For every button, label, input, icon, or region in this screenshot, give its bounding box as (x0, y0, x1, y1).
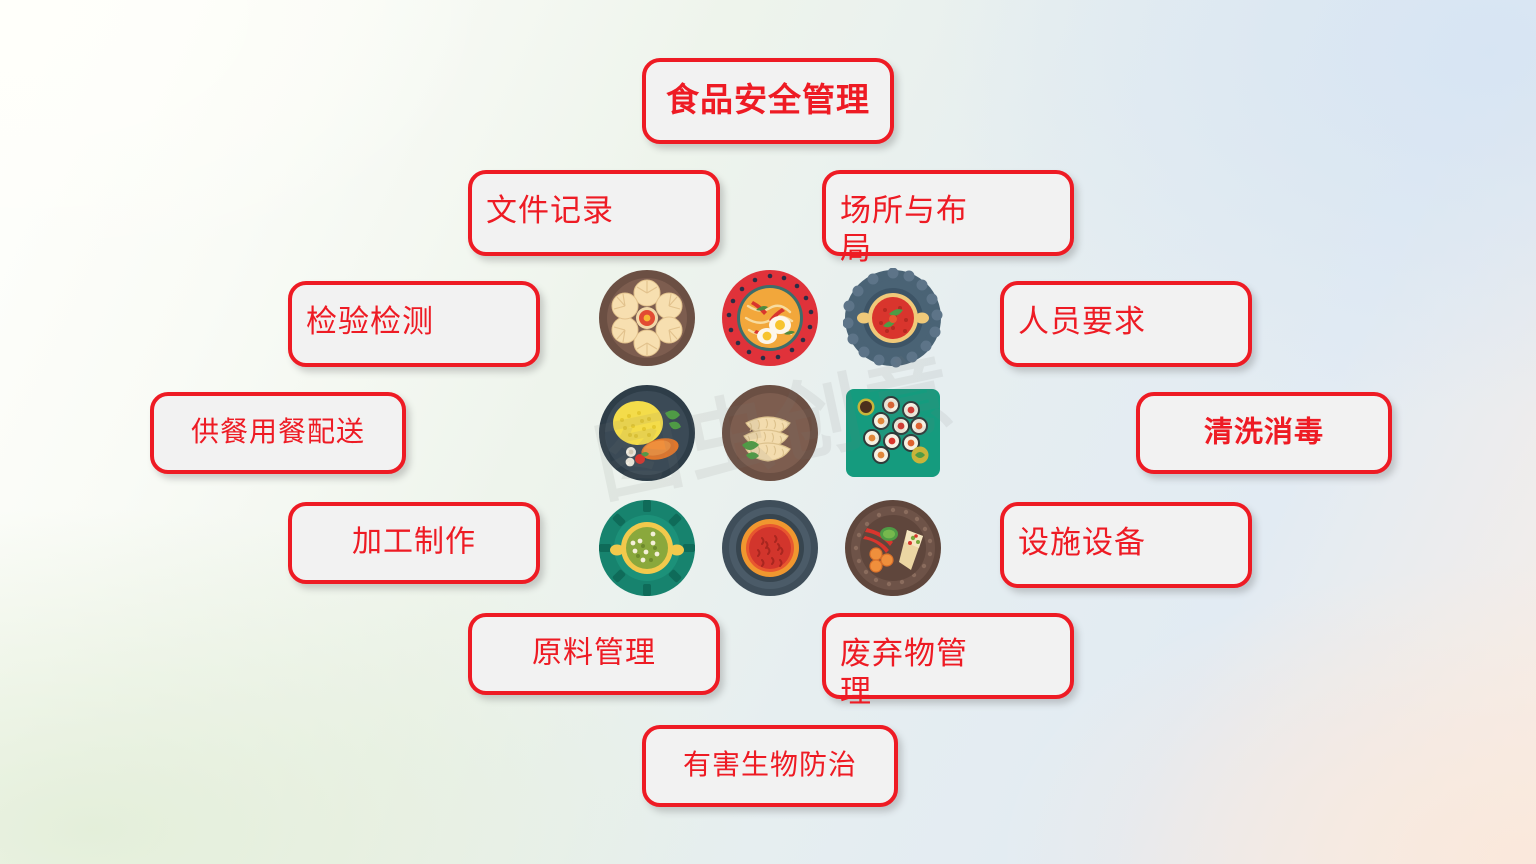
food-green-soup-teal-plate-icon (597, 498, 697, 598)
node-personnel-requirements[interactable]: 人员要求 (1000, 281, 1252, 367)
node-processing-preparation[interactable]: 加工制作 (288, 502, 540, 584)
food-noodles-eggs-red-plate-icon (720, 268, 820, 368)
food-dumplings-brown-plate-icon (597, 268, 697, 368)
food-sushi-green-square-plate-icon (843, 383, 943, 483)
node-meal-service-delivery[interactable]: 供餐用餐配送 (150, 392, 406, 474)
node-raw-material-management[interactable]: 原料管理 (468, 613, 720, 695)
node-label: 检验检测 (306, 303, 454, 341)
node-waste-management[interactable]: 废弃物管理 (822, 613, 1074, 699)
node-label: 人员要求 (1018, 303, 1166, 341)
node-label: 设施设备 (1018, 524, 1166, 562)
node-label: 加工制作 (292, 525, 536, 562)
food-tomato-soup-pot-blue-plate-icon (843, 268, 943, 368)
node-pest-control[interactable]: 有害生物防治 (642, 725, 898, 807)
node-document-records[interactable]: 文件记录 (468, 170, 720, 256)
food-dumplings-brown-plate-2-icon (720, 383, 820, 483)
node-label: 食品安全管理 (646, 81, 890, 121)
food-red-soup-dark-plate-icon (720, 498, 820, 598)
food-image-grid (597, 268, 943, 598)
food-burrito-veg-brown-plate-icon (843, 498, 943, 598)
node-label: 清洗消毒 (1140, 415, 1388, 450)
node-premises-layout[interactable]: 场所与布局 (822, 170, 1074, 256)
food-rice-chicken-dark-plate-icon (597, 383, 697, 483)
node-label: 原料管理 (472, 636, 716, 673)
node-cleaning-disinfection[interactable]: 清洗消毒 (1136, 392, 1392, 474)
node-inspection-testing[interactable]: 检验检测 (288, 281, 540, 367)
node-label: 有害生物防治 (646, 749, 894, 783)
node-label: 供餐用餐配送 (154, 416, 402, 450)
node-label: 文件记录 (486, 192, 634, 230)
node-food-safety-management[interactable]: 食品安全管理 (642, 58, 894, 144)
node-facilities-equipment[interactable]: 设施设备 (1000, 502, 1252, 588)
